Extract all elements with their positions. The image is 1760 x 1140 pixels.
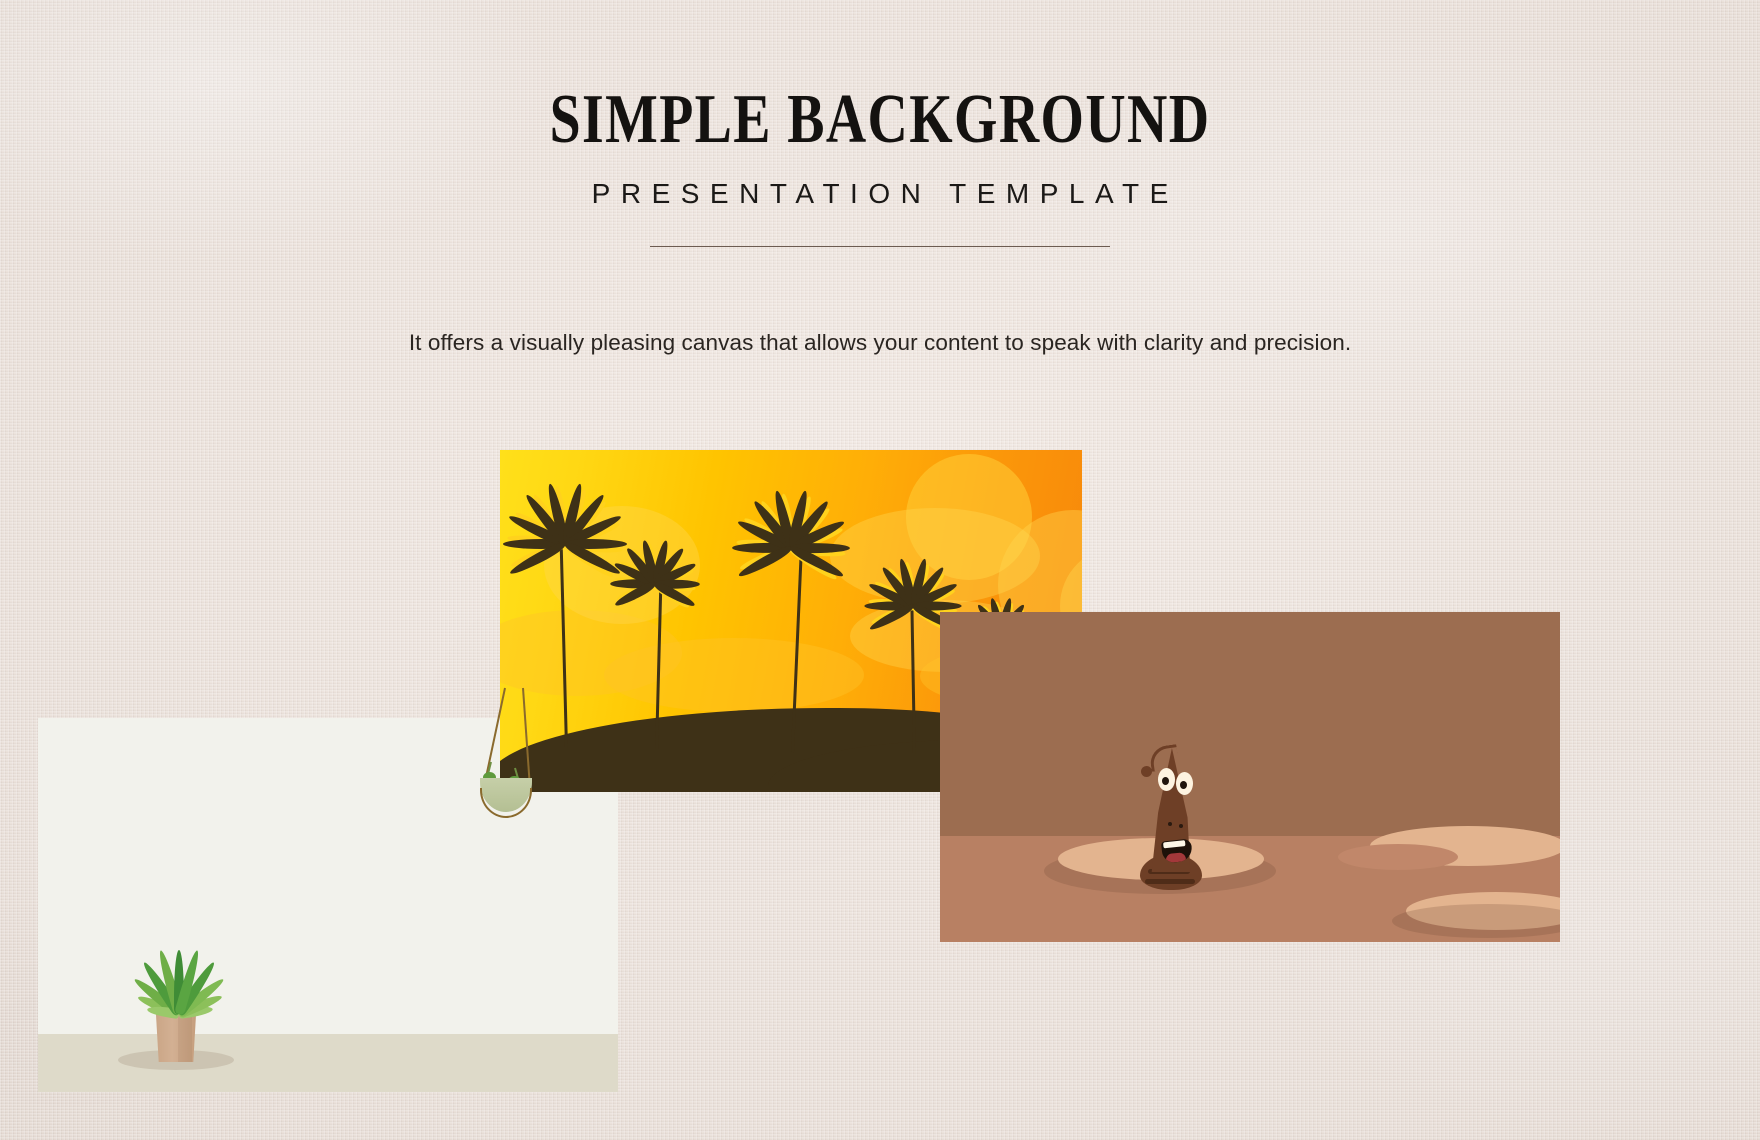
hanging-planter [470,688,544,818]
worm-tail-stripe-2 [1145,879,1195,884]
title-divider [650,246,1110,247]
plant-leaves [116,946,236,1014]
cartoon-worm-character [1132,740,1218,890]
worm-antenna-tip [1141,766,1152,777]
worm-eye-left [1158,768,1175,791]
palm-tree [912,550,914,754]
platform-right-mid [1338,844,1458,870]
palm-tree [654,530,656,750]
slide-thumbnail-worm[interactable] [940,612,1560,942]
palm-crown [790,548,792,550]
palm-tree [564,480,566,748]
header: SIMPLE BACKGROUND PRESENTATION TEMPLATE [0,84,1760,247]
page-title: SIMPLE BACKGROUND [62,84,1699,154]
worm-teeth [1163,840,1186,848]
planter-wire-frame [480,788,532,818]
worm-pupil-right [1180,781,1187,789]
worm-nostril-right [1179,824,1183,828]
lede-paragraph: It offers a visually pleasing canvas tha… [0,330,1760,356]
worm-eye-right [1176,772,1193,795]
palm-crown [912,606,914,608]
page-subtitle: PRESENTATION TEMPLATE [0,178,1760,210]
cloud-blob-5 [604,638,864,712]
palm-crown [654,584,656,586]
palm-crown [564,544,566,546]
worm-nostril-left [1168,822,1172,826]
palm-tree [790,486,792,752]
potted-plant [116,948,236,1066]
planter-strap-right [522,688,531,792]
worm-pupil-left [1162,777,1169,785]
